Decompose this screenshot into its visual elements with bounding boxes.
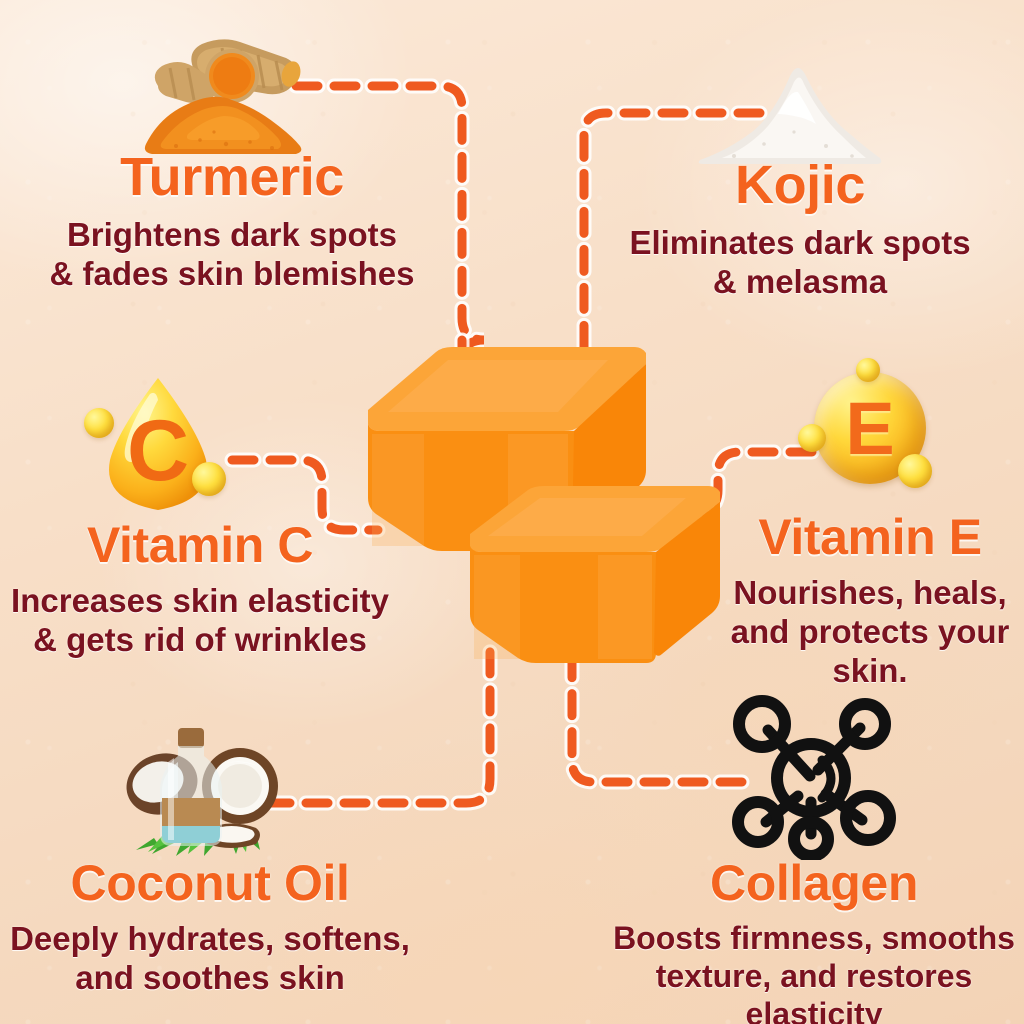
ingredient-vitamin-c: Vitamin C Increases skin elasticity & ge… (0, 520, 400, 660)
coconut-oil-desc-line-1: Deeply hydrates, softens, (0, 920, 420, 959)
soap-bar-front (462, 472, 732, 672)
vitamin-c-desc-line-1: Increases skin elasticity (0, 582, 400, 621)
vitamin-e-desc-line-1: Nourishes, heals, (716, 574, 1024, 613)
turmeric-desc-line-2: & fades skin blemishes (32, 255, 432, 294)
turmeric-title: Turmeric (32, 150, 432, 204)
vitamin-e-sphere-icon: E (798, 358, 948, 508)
vitamin-c-title: Vitamin C (0, 520, 400, 570)
ingredient-collagen: Collagen Boosts firmness, smooths textur… (604, 858, 1024, 1024)
ingredient-vitamin-e: Vitamin E Nourishes, heals, and protects… (716, 512, 1024, 691)
connector-coconut-oil (268, 648, 490, 803)
coconut-oil-description: Deeply hydrates, softens, and soothes sk… (0, 920, 420, 998)
kojic-desc-line-1: Eliminates dark spots (600, 224, 1000, 263)
vitamin-e-bubble-right (898, 454, 932, 488)
ingredient-coconut-oil: Coconut Oil Deeply hydrates, softens, an… (0, 858, 420, 998)
turmeric-description: Brightens dark spots & fades skin blemis… (32, 216, 432, 294)
infographic-canvas: Turmeric Brightens dark spots & fades sk… (0, 0, 1024, 1024)
collagen-desc-line-1: Boosts firmness, smooths (604, 920, 1024, 958)
collagen-molecule-icon (722, 694, 900, 860)
coconut-oil-desc-line-2: and soothes skin (0, 959, 420, 998)
ingredient-turmeric: Turmeric Brightens dark spots & fades sk… (32, 150, 432, 294)
vitamin-e-bubble-top (856, 358, 880, 382)
svg-text:C: C (127, 403, 189, 499)
coconut-oil-title: Coconut Oil (0, 858, 420, 908)
white-powder-mound-icon (694, 58, 884, 168)
vitamin-c-desc-line-2: & gets rid of wrinkles (0, 621, 400, 660)
vitamin-e-bubble-left (798, 424, 826, 452)
collagen-desc-line-2: texture, and restores elasticity (604, 958, 1024, 1024)
kojic-title: Kojic (600, 158, 1000, 212)
collagen-title: Collagen (604, 858, 1024, 908)
kojic-description: Eliminates dark spots & melasma (600, 224, 1000, 302)
turmeric-root-powder-icon (136, 12, 312, 158)
vitamin-e-description: Nourishes, heals, and protects your skin… (716, 574, 1024, 691)
coconut-oil-bottle-icon (118, 722, 294, 862)
vitamin-c-bubble-left (84, 408, 114, 438)
ingredient-kojic: Kojic Eliminates dark spots & melasma (600, 158, 1000, 302)
turmeric-desc-line-1: Brightens dark spots (32, 216, 432, 255)
vitamin-c-bubble-right (192, 462, 226, 496)
vitamin-c-droplet-icon: C (88, 368, 238, 523)
vitamin-e-desc-line-2: and protects your (716, 613, 1024, 652)
vitamin-e-title: Vitamin E (716, 512, 1024, 562)
kojic-desc-line-2: & melasma (600, 263, 1000, 302)
vitamin-e-desc-line-3: skin. (716, 652, 1024, 691)
vitamin-c-description: Increases skin elasticity & gets rid of … (0, 582, 400, 660)
collagen-description: Boosts firmness, smooths texture, and re… (604, 920, 1024, 1024)
